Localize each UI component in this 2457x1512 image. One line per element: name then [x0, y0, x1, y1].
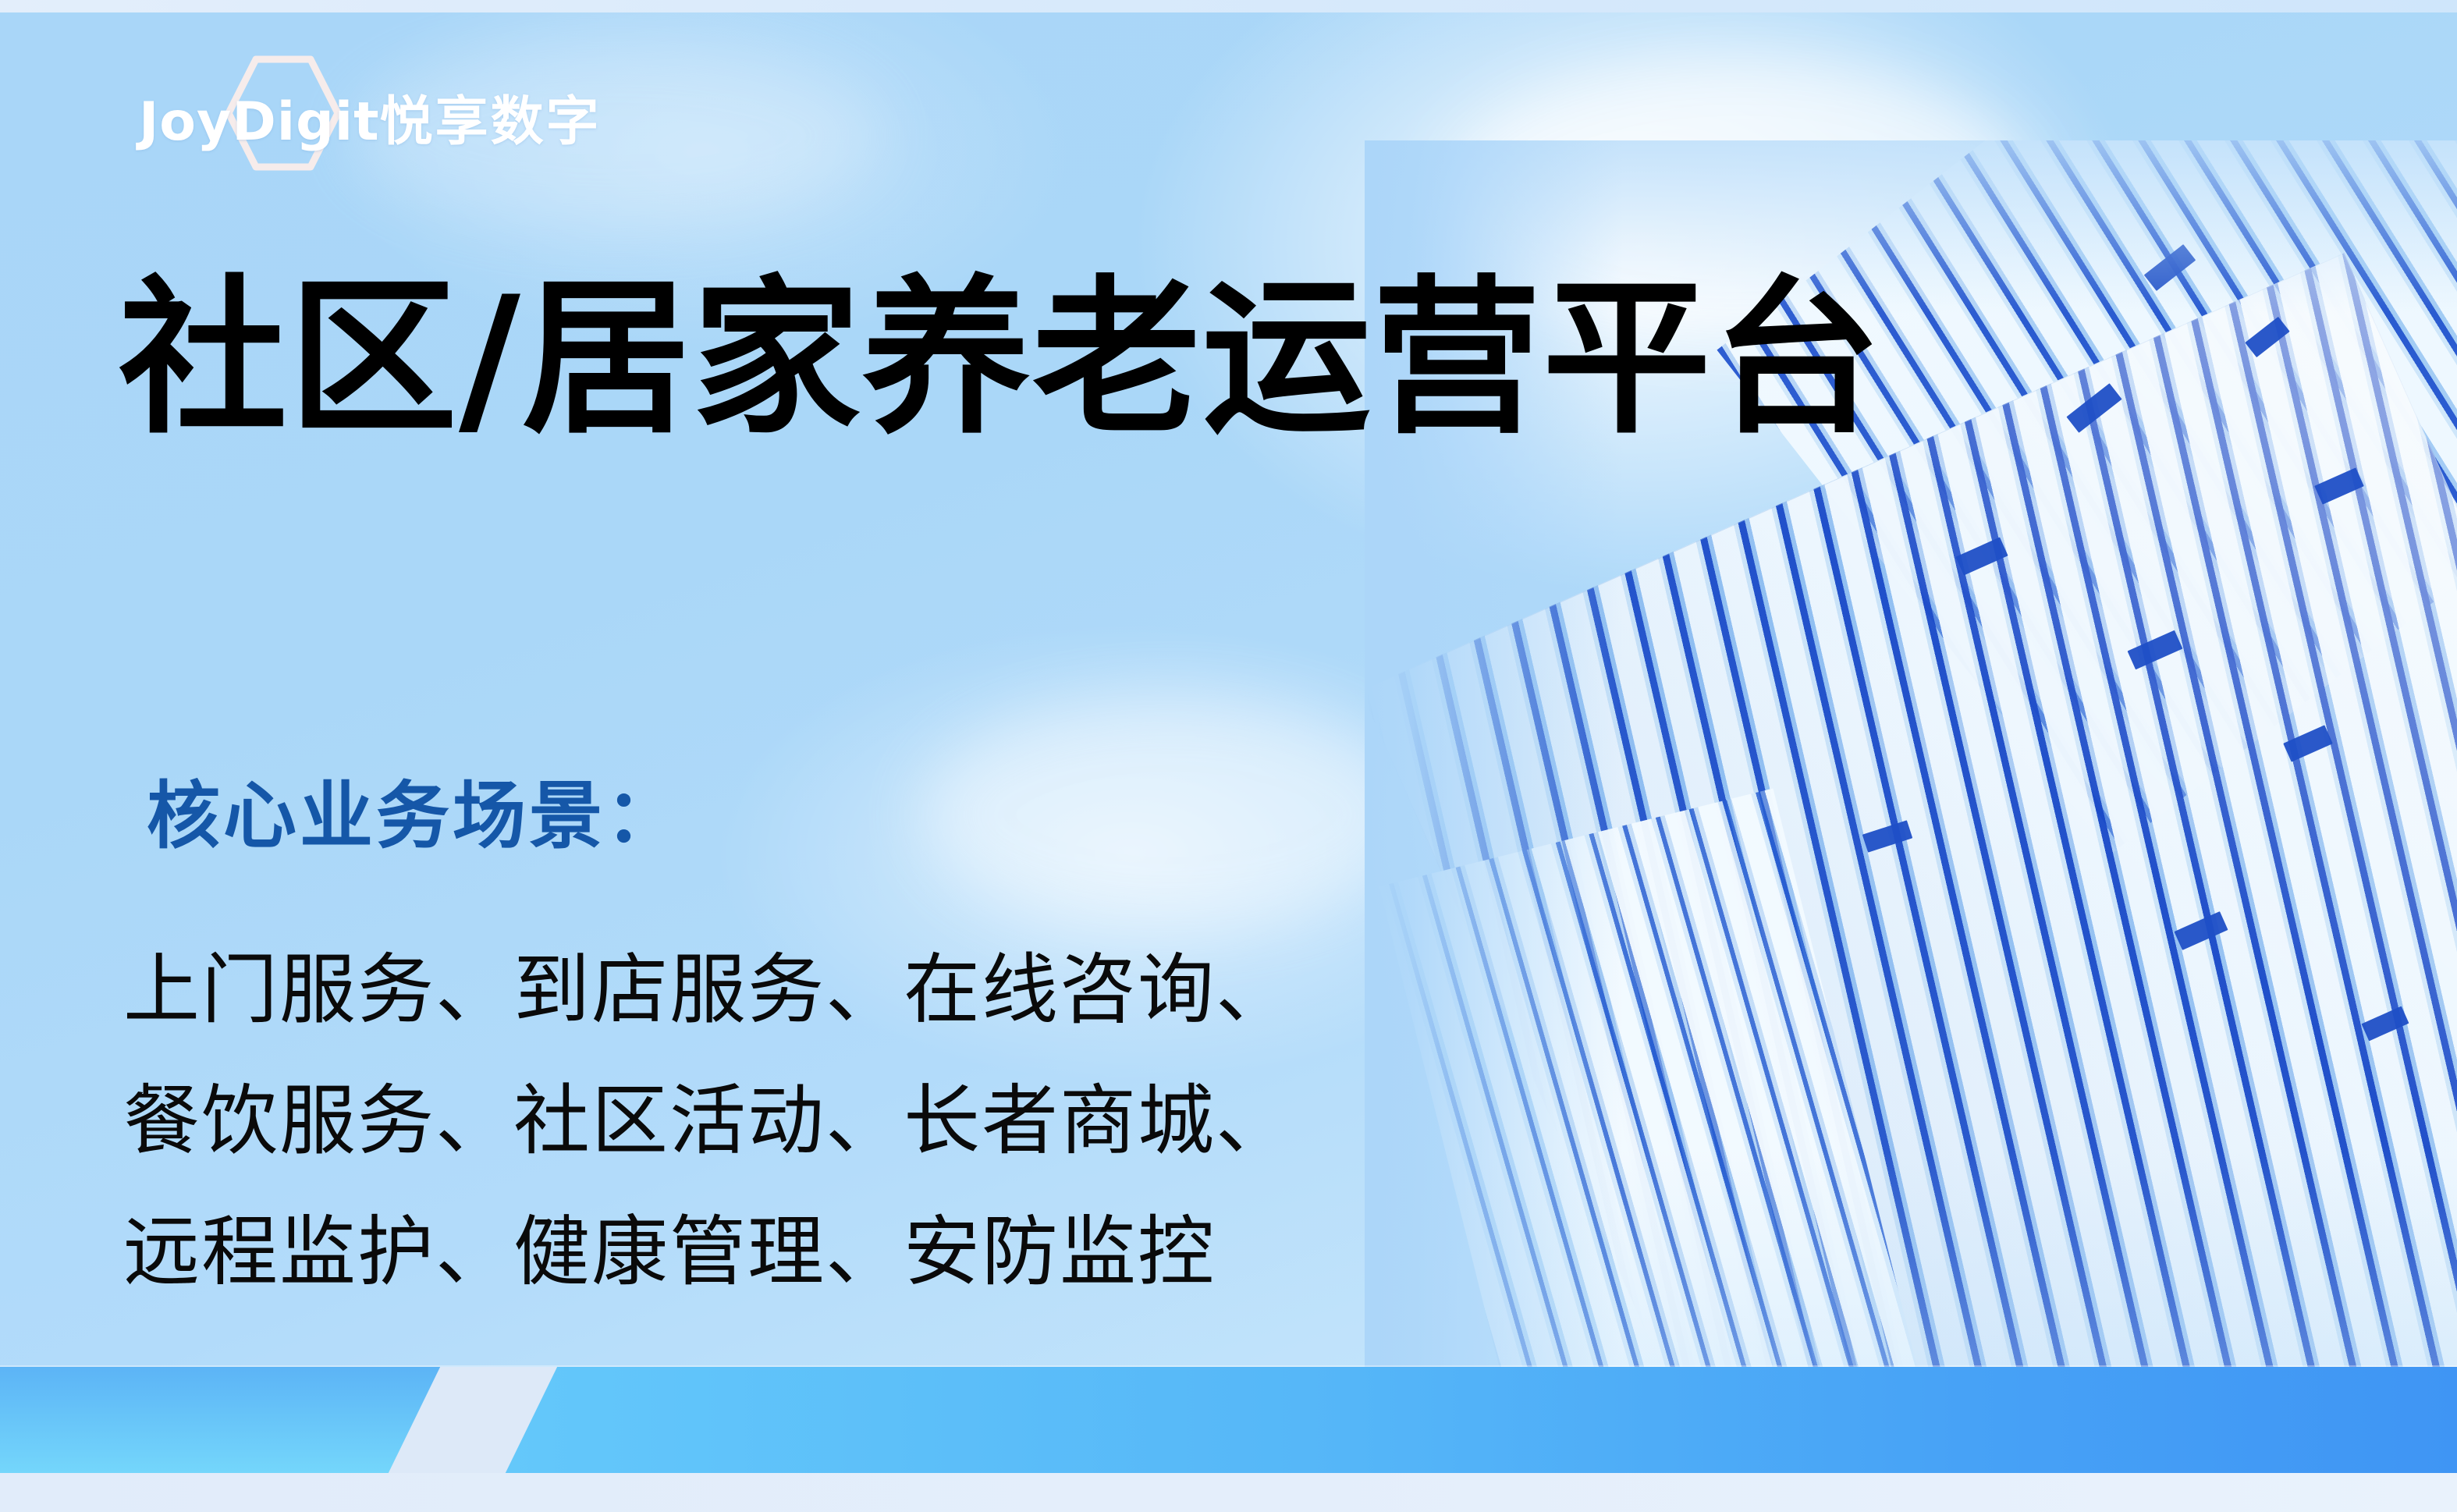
scenario-line: 远程监护、健康管理、安防监控	[123, 1187, 1294, 1318]
scenario-line: 餐饮服务、社区活动、长者商城、	[123, 1056, 1294, 1187]
brand-logo-text: JoyDigit悦享数字	[139, 78, 602, 155]
bottom-decorative-band	[0, 1367, 2457, 1473]
brand-logo[interactable]: JoyDigit悦享数字	[139, 61, 669, 154]
brand-logo-cn: 悦享数字	[380, 91, 602, 153]
slide-root: JoyDigit悦享数字 社区/居家养老运营平台 核心业务场景： 上门服务、到店…	[0, 0, 2457, 1512]
scenario-line: 上门服务、到店服务、在线咨询、	[123, 925, 1294, 1056]
bottom-edge-strip	[0, 1473, 2457, 1512]
cloud-wisp	[921, 697, 1420, 932]
page-title: 社区/居家养老运营平台	[119, 275, 1883, 443]
scenario-list: 上门服务、到店服务、在线咨询、 餐饮服务、社区活动、长者商城、 远程监护、健康管…	[123, 925, 1294, 1318]
section-label: 核心业务场景：	[147, 780, 682, 854]
top-edge-strip	[0, 0, 2457, 12]
brand-logo-latin: JoyDigit	[139, 91, 380, 153]
